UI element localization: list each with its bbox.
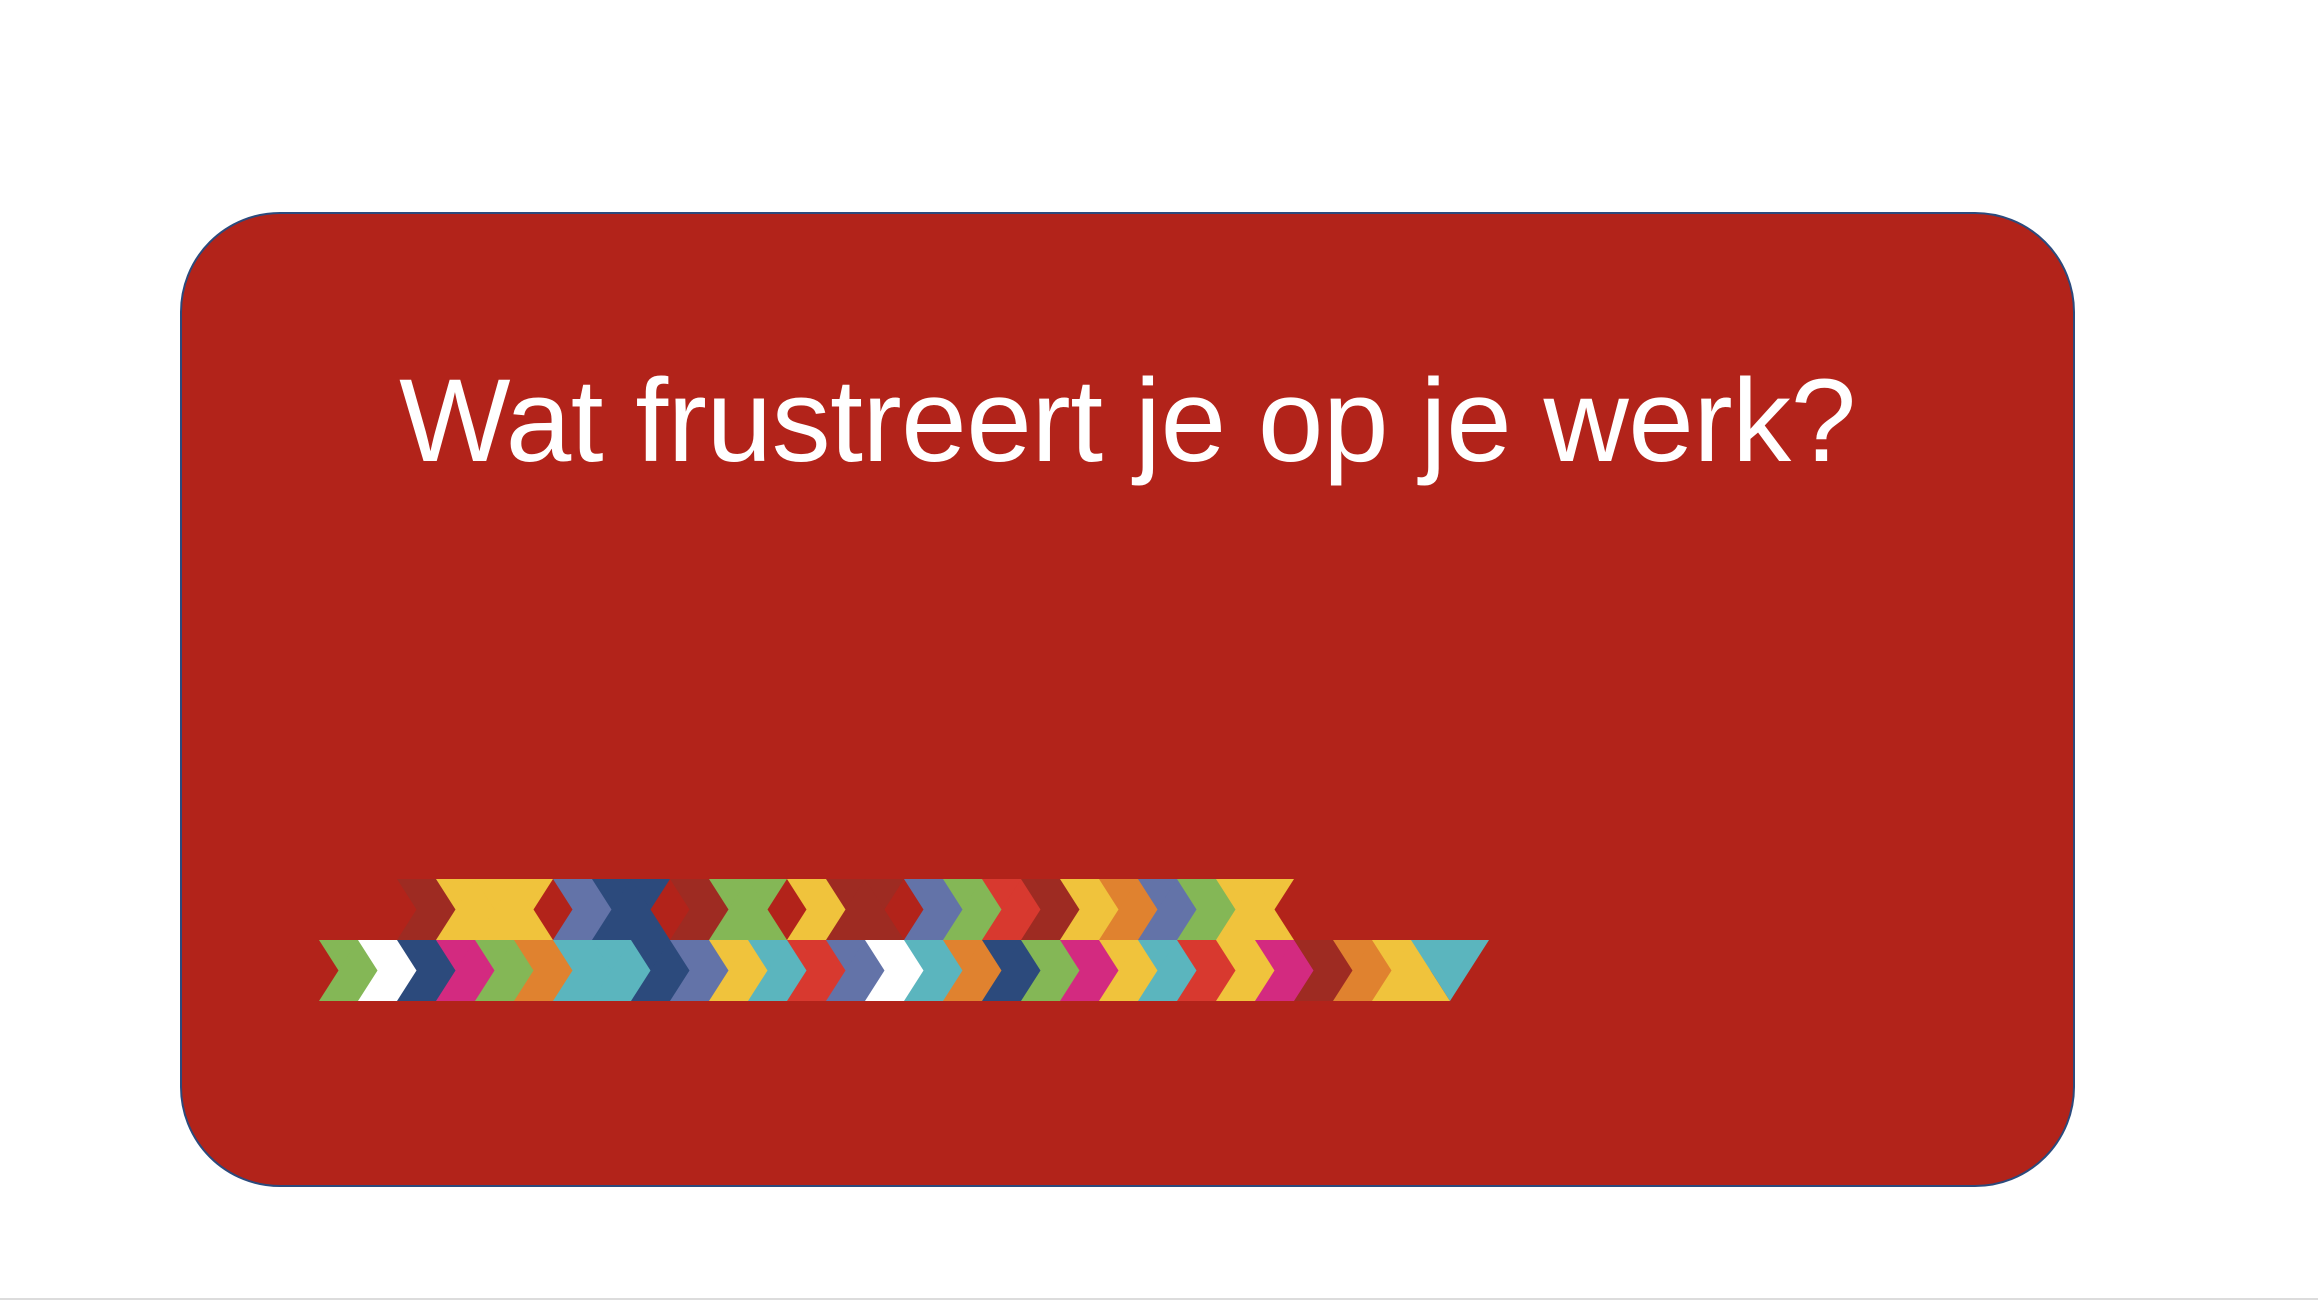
triangle-mosaic-svg bbox=[280, 879, 1920, 1024]
title-text: Wat frustreert je op je werk? bbox=[372, 342, 1883, 500]
page-divider bbox=[0, 1298, 2318, 1300]
slide-canvas: Wat frustreert je op je werk? bbox=[0, 0, 2318, 1308]
title-card[interactable]: Wat frustreert je op je werk? bbox=[180, 212, 2075, 1187]
page-title: Wat frustreert je op je werk? bbox=[182, 342, 2073, 500]
triangle-mosaic-band bbox=[280, 879, 1920, 1024]
